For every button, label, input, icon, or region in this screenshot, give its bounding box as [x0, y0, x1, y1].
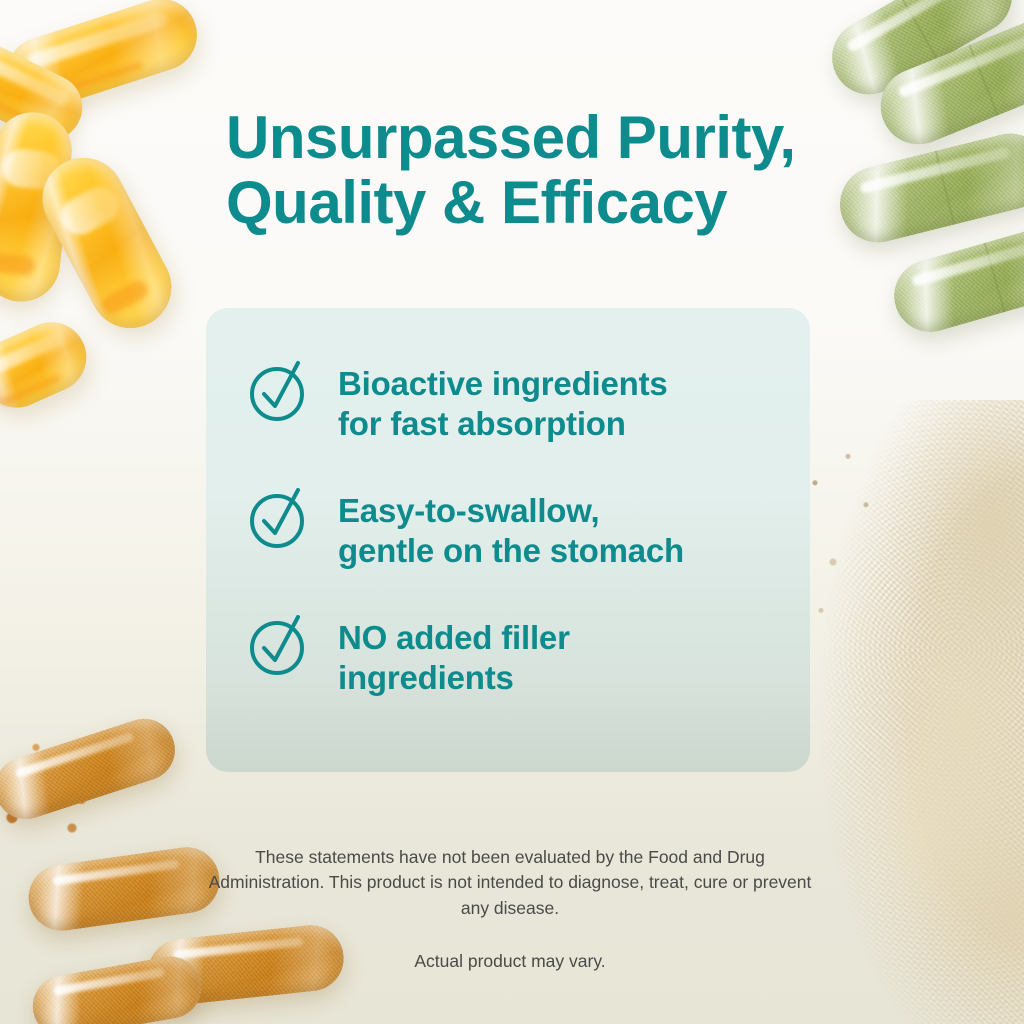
- turmeric-capsule: [24, 843, 223, 935]
- turmeric-capsule: [28, 952, 206, 1024]
- softgel-capsule: [28, 143, 186, 342]
- fda-disclaimer-text: These statements have not been evaluated…: [209, 847, 812, 918]
- benefit-line-2: gentle on the stomach: [338, 531, 684, 571]
- check-circle-icon: [248, 612, 312, 678]
- benefit-line-2: ingredients: [338, 658, 570, 698]
- green-capsule: [832, 125, 1024, 250]
- softgel-capsule: [0, 311, 98, 419]
- benefit-text: Easy-to-swallow, gentle on the stomach: [338, 485, 684, 570]
- benefit-line-1: NO added filler: [338, 619, 570, 656]
- green-capsule: [869, 8, 1024, 156]
- page-title: Unsurpassed Purity, Quality & Efficacy: [226, 106, 826, 236]
- headline-line-1: Unsurpassed Purity,: [226, 104, 796, 171]
- product-vary-text: Actual product may vary.: [200, 949, 820, 974]
- headline-line-2: Quality & Efficacy: [226, 171, 826, 236]
- product-benefits-graphic: Unsurpassed Purity, Quality & Efficacy B…: [0, 0, 1024, 1024]
- list-item: Bioactive ingredients for fast absorptio…: [248, 358, 808, 443]
- benefit-line-1: Easy-to-swallow,: [338, 492, 599, 529]
- softgel-capsule: [0, 0, 206, 119]
- turmeric-capsule: [0, 711, 183, 827]
- benefit-line-1: Bioactive ingredients: [338, 365, 668, 402]
- check-circle-icon: [248, 485, 312, 551]
- list-item: NO added filler ingredients: [248, 612, 808, 697]
- benefit-text: NO added filler ingredients: [338, 612, 570, 697]
- check-circle-icon: [248, 358, 312, 424]
- benefit-line-2: for fast absorption: [338, 404, 668, 444]
- softgel-capsule: [0, 108, 76, 305]
- green-capsule: [886, 219, 1024, 340]
- benefits-list: Bioactive ingredients for fast absorptio…: [248, 358, 808, 698]
- turmeric-powder-crumbs: [0, 724, 108, 854]
- list-item: Easy-to-swallow, gentle on the stomach: [248, 485, 808, 570]
- green-capsule: [819, 0, 1024, 108]
- benefit-text: Bioactive ingredients for fast absorptio…: [338, 358, 668, 443]
- disclaimer: These statements have not been evaluated…: [200, 845, 820, 975]
- softgel-capsule: [0, 31, 93, 152]
